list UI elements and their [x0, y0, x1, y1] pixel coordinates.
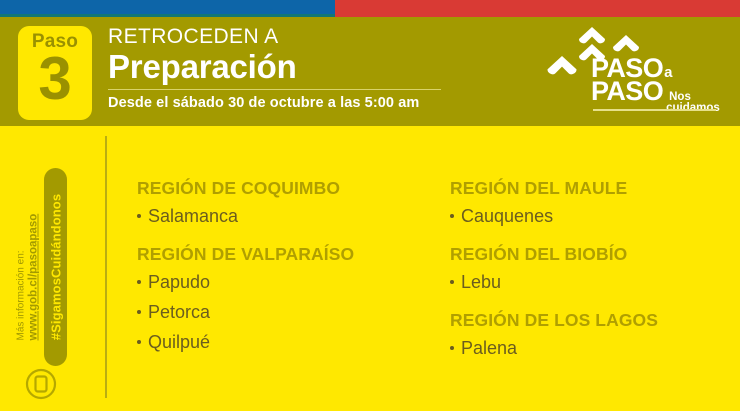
chevron-up-icon: [613, 35, 639, 52]
comuna-label: Palena: [461, 333, 517, 363]
region-heading: REGIÓN DEL BIOBÍO: [450, 244, 727, 265]
header-text-block: RETROCEDEN A Preparación Desde el sábado…: [108, 25, 538, 112]
comuna-label: Papudo: [148, 267, 210, 297]
infographic-canvas: Paso 3 RETROCEDEN A Preparación Desde el…: [0, 0, 740, 411]
regions-column-right: REGIÓN DEL MAULE Cauquenes REGIÓN DEL BI…: [450, 178, 727, 363]
region-group: REGIÓN DEL BIOBÍO Lebu: [450, 244, 727, 297]
bullet-icon: [137, 340, 141, 344]
comuna-label: Petorca: [148, 297, 210, 327]
header-title: Preparación: [108, 48, 538, 86]
device-circle-icon: [25, 368, 57, 400]
bullet-icon: [137, 214, 141, 218]
logo-line2: PASO: [591, 76, 663, 106]
comuna-label: Quilpué: [148, 327, 210, 357]
chevron-up-icon: [579, 27, 605, 44]
list-item: Petorca: [137, 297, 450, 327]
bullet-icon: [450, 346, 454, 350]
paso-a-paso-logo: PASO a PASO Nos cuidamos: [543, 27, 718, 119]
region-heading: REGIÓN DE VALPARAÍSO: [137, 244, 450, 265]
header-subtitle: Desde el sábado 30 de octubre a las 5:00…: [108, 95, 538, 112]
bullet-icon: [450, 214, 454, 218]
comuna-label: Salamanca: [148, 201, 238, 231]
list-item: Papudo: [137, 267, 450, 297]
regions-columns: REGIÓN DE COQUIMBO Salamanca REGIÓN DE V…: [137, 178, 727, 363]
header-band: Paso 3 RETROCEDEN A Preparación Desde el…: [0, 17, 740, 126]
list-item: Palena: [450, 333, 727, 363]
chevron-up-icon: [547, 56, 577, 75]
bullet-icon: [137, 310, 141, 314]
left-rail: Más información en: www.gob.cl/pasoapaso…: [0, 130, 104, 411]
region-heading: REGIÓN DE LOS LAGOS: [450, 310, 727, 331]
bullet-icon: [450, 280, 454, 284]
paso-step-badge: Paso 3: [18, 26, 92, 120]
comuna-label: Lebu: [461, 267, 501, 297]
hashtag-pill: #SigamosCuidándonos: [44, 168, 67, 366]
comuna-label: Cauquenes: [461, 201, 553, 231]
more-info-block: Más información en: www.gob.cl/pasoapaso: [16, 181, 41, 341]
region-heading: REGIÓN DE COQUIMBO: [137, 178, 450, 199]
header-divider-rule: [108, 89, 441, 90]
region-heading: REGIÓN DEL MAULE: [450, 178, 727, 199]
region-group: REGIÓN DE LOS LAGOS Palena: [450, 310, 727, 363]
content-vertical-divider: [105, 136, 107, 398]
more-info-label: Más información en:: [16, 181, 28, 341]
header-kicker: RETROCEDEN A: [108, 25, 538, 49]
more-info-url[interactable]: www.gob.cl/pasoapaso: [28, 181, 41, 341]
paso-badge-number: 3: [38, 50, 71, 108]
logo-underline: [593, 109, 716, 111]
flag-red-segment: [335, 0, 740, 17]
region-group: REGIÓN DEL MAULE Cauquenes: [450, 178, 727, 231]
list-item: Salamanca: [137, 201, 450, 231]
hashtag-label: #SigamosCuidándonos: [48, 194, 63, 340]
logo-line1-suffix: a: [664, 65, 672, 81]
regions-column-left: REGIÓN DE COQUIMBO Salamanca REGIÓN DE V…: [137, 178, 450, 363]
region-group: REGIÓN DE COQUIMBO Salamanca: [137, 178, 450, 231]
bullet-icon: [137, 280, 141, 284]
list-item: Cauquenes: [450, 201, 727, 231]
region-group: REGIÓN DE VALPARAÍSO Papudo Petorca Quil…: [137, 244, 450, 357]
list-item: Quilpué: [137, 327, 450, 357]
logo-wordmark: PASO a PASO Nos cuidamos: [591, 53, 720, 116]
list-item: Lebu: [450, 267, 727, 297]
